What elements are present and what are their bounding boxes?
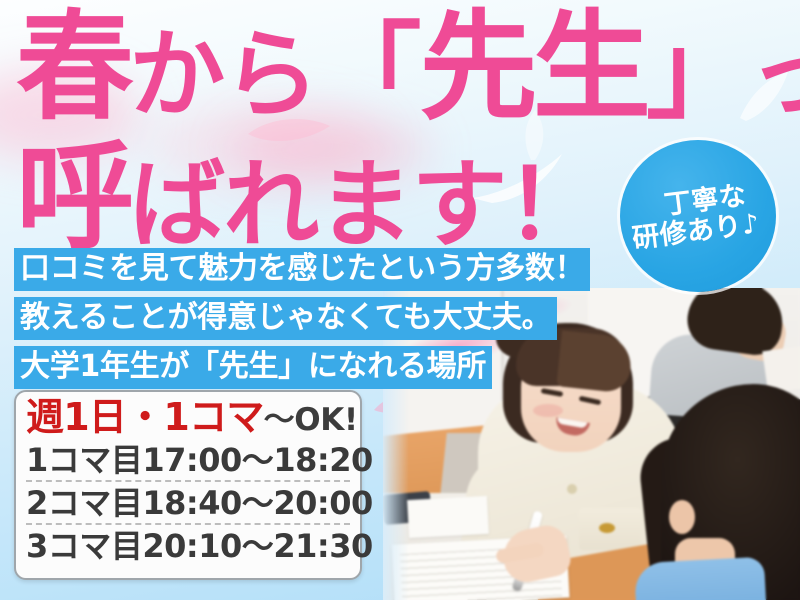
schedule-heading-red: 週1日・1コマ (26, 395, 264, 439)
photo-student-shirt (634, 557, 766, 600)
headline-line-1-part: 「 (317, 11, 419, 133)
feature-band-1: 口コミを見て魅力を感じたという方多数！ (14, 248, 590, 291)
headline-line-1-part: 」 (646, 11, 748, 133)
photo-tutor-broach (599, 523, 615, 533)
poster-root: 春から「先生」って 呼ばれます！ 丁寧な 研修あり♪ 口コミを見て魅力を感じたと… (0, 0, 800, 600)
feature-band-3: 大学1年生が「先生」になれる場所 (14, 346, 492, 389)
headline-line-2-part: 呼 (16, 128, 129, 266)
feature-band-row: 教えることが得意じゃなくても大丈夫。 (14, 297, 590, 346)
headline-line-1-part: って (748, 19, 800, 131)
schedule-slot-2: 2コマ目18:40～20:00 (26, 482, 350, 525)
training-badge-line-2: 研修あり♪ (631, 208, 762, 255)
photo-student-ear (669, 500, 695, 534)
feature-band-2: 教えることが得意じゃなくても大丈夫。 (14, 297, 557, 340)
photo-tutor-button (567, 484, 577, 494)
schedule-panel-heading: 週1日・1コマ～OK! (26, 398, 350, 436)
headline-line-1: 春から「先生」って (16, 8, 786, 126)
schedule-slot-3: 3コマ目20:10～21:30 (26, 525, 350, 566)
feature-band-row: 口コミを見て魅力を感じたという方多数！ (14, 248, 590, 297)
schedule-heading-gray: ～OK! (264, 402, 358, 438)
photo-paper (407, 496, 489, 538)
feature-bands: 口コミを見て魅力を感じたという方多数！ 教えることが得意じゃなくても大丈夫。 大… (14, 248, 590, 395)
training-badge: 丁寧な 研修あり♪ (620, 140, 776, 292)
feature-band-row: 大学1年生が「先生」になれる場所 (14, 346, 590, 395)
headline-line-1-part: から (129, 19, 317, 131)
schedule-slot-1: 1コマ目17:00～18:20 (26, 439, 350, 482)
headline-line-1-part: 先生 (420, 0, 647, 136)
photo-tutor-blush (533, 404, 563, 417)
headline-line-2-part: ばれます！ (129, 149, 599, 261)
headline-line-1-part: 春 (16, 0, 129, 136)
schedule-panel: 週1日・1コマ～OK! 1コマ目17:00～18:20 2コマ目18:40～20… (14, 390, 362, 580)
